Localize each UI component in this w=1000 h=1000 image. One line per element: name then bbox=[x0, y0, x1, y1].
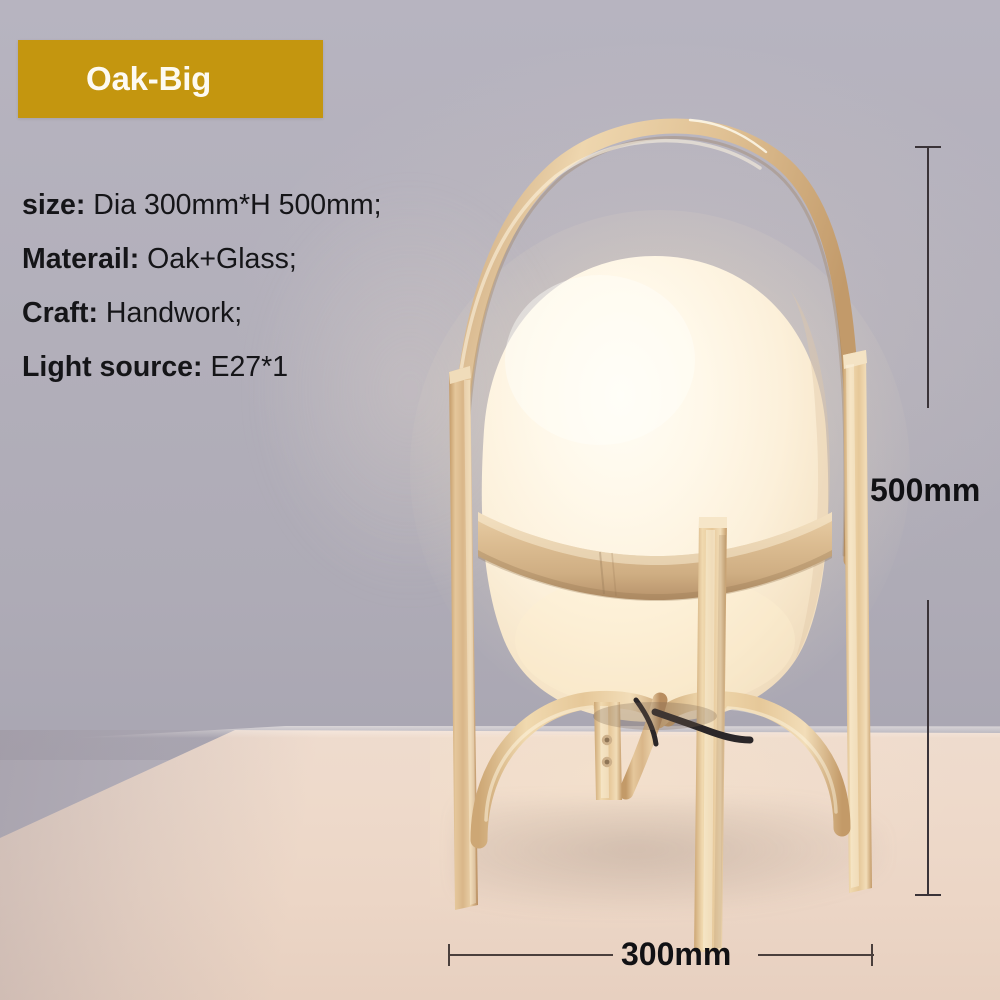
variant-badge-label: Oak-Big bbox=[18, 60, 211, 98]
spec-value-material: Oak+Glass; bbox=[147, 243, 297, 275]
height-dim-label: 500mm bbox=[870, 472, 980, 509]
variant-badge: Oak-Big bbox=[18, 40, 323, 118]
spec-row-light-source: Light source: E27*1 bbox=[22, 340, 542, 394]
spec-value-size: Dia 300mm*H 500mm; bbox=[93, 189, 381, 221]
spec-key-size: size: bbox=[22, 189, 85, 221]
spec-value-craft: Handwork; bbox=[106, 297, 242, 329]
spec-key-craft: Craft: bbox=[22, 297, 98, 329]
lamp-illustration bbox=[0, 0, 1000, 1000]
spec-row-size: size: Dia 300mm*H 500mm; bbox=[22, 178, 542, 232]
spec-key-material: Materail: bbox=[22, 243, 139, 275]
height-dim-line-upper bbox=[927, 146, 929, 408]
height-dim-line-lower bbox=[927, 600, 929, 896]
width-dim-right-tick bbox=[871, 944, 873, 966]
spec-list: size: Dia 300mm*H 500mm; Materail: Oak+G… bbox=[22, 178, 542, 394]
width-dim-line-right bbox=[758, 954, 874, 956]
height-dim-bottom-tick bbox=[915, 894, 941, 896]
product-image-canvas: Oak-Big size: Dia 300mm*H 500mm; Materai… bbox=[0, 0, 1000, 1000]
width-dim-label: 300mm bbox=[621, 936, 731, 973]
globe-base-shadow bbox=[593, 702, 717, 730]
spec-key-light-source: Light source: bbox=[22, 351, 203, 383]
spec-row-craft: Craft: Handwork; bbox=[22, 286, 542, 340]
width-dim-line-left bbox=[448, 954, 613, 956]
spec-value-light-source: E27*1 bbox=[210, 351, 288, 383]
spec-row-material: Materail: Oak+Glass; bbox=[22, 232, 542, 286]
